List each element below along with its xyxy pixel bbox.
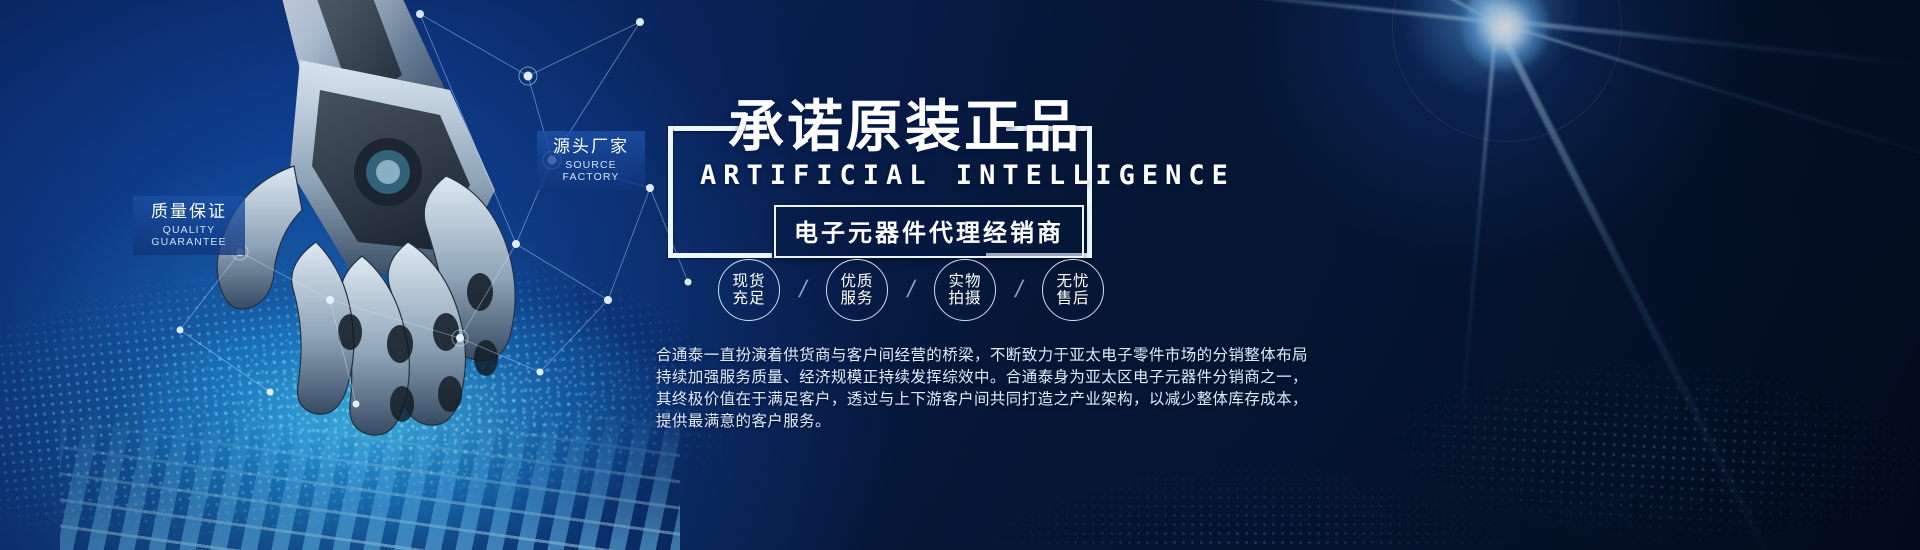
feature-circle-service: 优质 服务 [826, 259, 888, 321]
description-paragraph: 合通泰一直扮演着供货商与客户间经营的桥梁，不断致力于亚太电子零件市场的分销整体布… [656, 345, 1316, 433]
badge-source-factory: 源头厂家 SOURCE FACTORY [537, 131, 645, 190]
feature-circle-photo: 实物 拍摄 [934, 259, 996, 321]
separator-3: / [993, 276, 1045, 304]
subtitle-box-label: 电子元器件代理经销商 [794, 220, 1064, 247]
bracket-right-vertical [1087, 126, 1092, 258]
separator-2: / [885, 276, 937, 304]
feature-aftersales-line1: 无忧 [1056, 273, 1089, 290]
badge-factory-en: SOURCE FACTORY [549, 159, 633, 183]
feature-service-line1: 优质 [840, 273, 873, 290]
paragraph-line-1: 合通泰一直扮演着供货商与客户间经营的桥梁，不断致力于亚太电子零件市场的分销整体布… [656, 345, 1316, 367]
feature-aftersales-line2: 售后 [1056, 290, 1089, 307]
headline-title: 承诺原装正品 [728, 82, 1082, 163]
subtitle-english: ARTIFICIAL INTELLIGENCE [700, 160, 1235, 191]
badge-quality-cn: 质量保证 [145, 202, 233, 222]
subtitle-box: 电子元器件代理经销商 [774, 205, 1084, 258]
feature-circle-aftersales: 无忧 售后 [1042, 259, 1104, 321]
bracket-left-vertical [668, 126, 673, 258]
content-block: 承诺原装正品 ARTIFICIAL INTELLIGENCE 电子元器件代理经销… [656, 62, 1756, 482]
feature-stock-line2: 充足 [732, 290, 765, 307]
bracket-bottom-left [668, 253, 772, 258]
feature-circle-stock: 现货 充足 [718, 259, 780, 321]
feature-service-line2: 服务 [840, 290, 873, 307]
paragraph-line-4: 提供最满意的客户服务。 [656, 411, 1316, 433]
promo-banner: 质量保证 QUALITY GUARANTEE 源头厂家 SOURCE FACTO… [0, 0, 1920, 550]
paragraph-line-2: 持续加强服务质量、经济规模正持续发挥综效中。合通泰身为亚太区电子元器件分销商之一… [656, 367, 1316, 389]
feature-stock-line1: 现货 [732, 273, 765, 290]
feature-photo-line2: 拍摄 [948, 290, 981, 307]
badge-quality-en: QUALITY GUARANTEE [145, 224, 233, 248]
badge-quality-guarantee: 质量保证 QUALITY GUARANTEE [133, 196, 245, 255]
feature-photo-line1: 实物 [948, 273, 981, 290]
separator-1: / [777, 276, 829, 304]
badge-factory-cn: 源头厂家 [549, 137, 633, 157]
paragraph-line-3: 其终极价值在于满足客户，透过与上下游客户间共同打造之产业架构，以减少整体库存成本… [656, 389, 1316, 411]
feature-circle-list: 现货 充足 / 优质 服务 / 实物 拍摄 / 无忧 售后 [718, 259, 1104, 321]
